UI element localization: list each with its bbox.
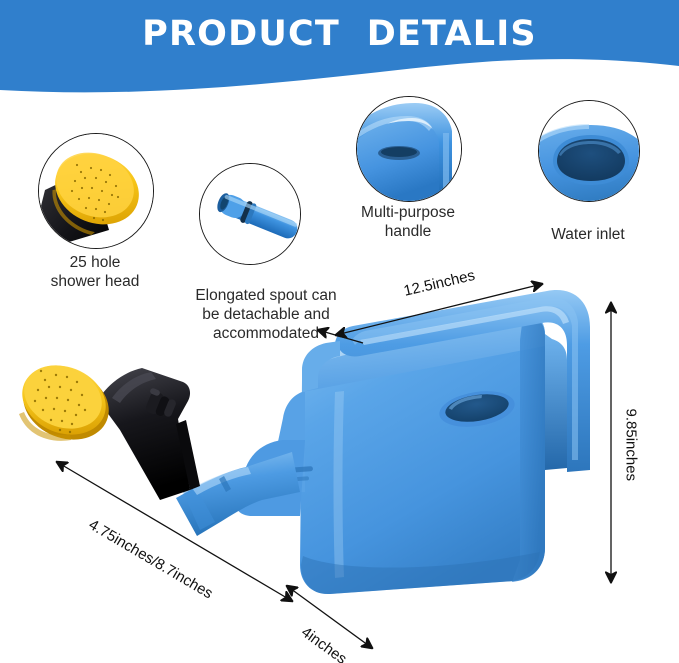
black-collar [98,368,200,500]
callout-circle-water-inlet [538,100,640,202]
handle-illustration [357,97,461,201]
callout-caption-handle: Multi-purpose handle [340,203,476,241]
callout-caption-shower-head: 25 hole shower head [20,253,170,291]
callout-circle-shower-head [38,133,154,249]
header-banner: PRODUCT DETALIS [0,0,679,108]
callout-caption-spout: Elongated spout can be detachable and ac… [168,286,364,343]
dim-label-depth: 4inches [298,624,350,663]
spout-illustration [200,164,300,264]
callout-circle-spout [199,163,301,265]
dim-label-height: 9.85inches [623,409,640,482]
shower-head [12,353,120,452]
page-title: PRODUCT DETALIS [0,14,679,54]
spout-tube [176,452,300,536]
dim-label-handle-width: 12.5inches [402,267,477,300]
shower-head-illustration [39,134,153,248]
callout-circle-handle [356,96,462,202]
water-inlet-illustration [539,101,639,201]
product-details-infographic: PRODUCT DETALIS [0,0,679,663]
dim-label-spout-length: 4.75inches/8.7inches [86,516,216,602]
water-inlet-opening [437,386,517,431]
adjust-knob [144,387,177,417]
callout-caption-water-inlet: Water inlet [518,225,658,244]
